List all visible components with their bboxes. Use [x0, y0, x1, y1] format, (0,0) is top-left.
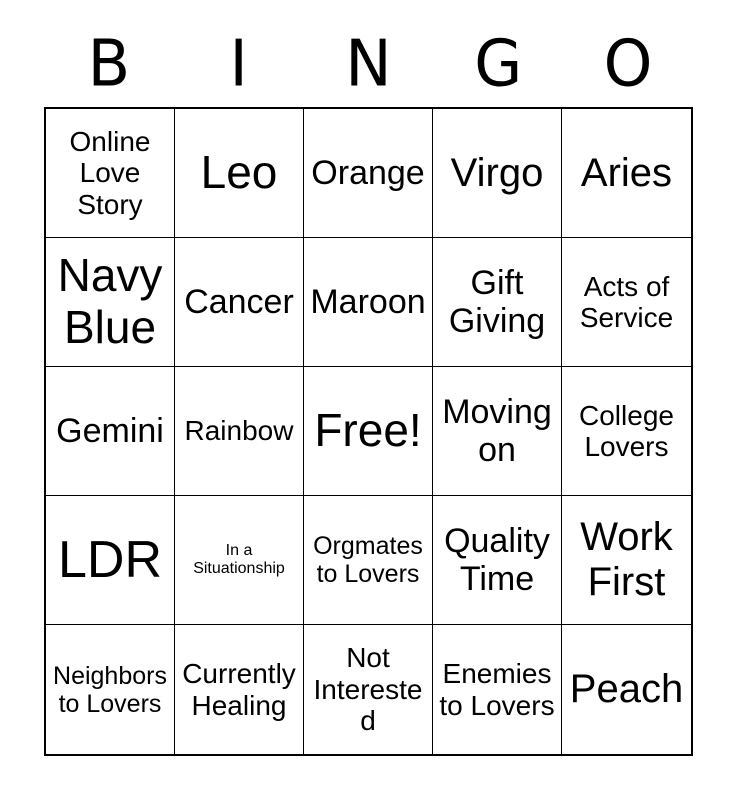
bingo-cell-label: Gemini: [49, 412, 171, 450]
bingo-cell[interactable]: College Lovers: [562, 367, 691, 496]
bingo-cell-label: Moving on: [436, 393, 558, 469]
bingo-cell-label: College Lovers: [565, 400, 688, 463]
bingo-cell-label: Gift Giving: [436, 264, 558, 340]
bingo-cell[interactable]: Leo: [175, 109, 304, 238]
bingo-header-letter-g: G: [433, 32, 563, 96]
bingo-cell-label: Not Interested: [307, 642, 429, 736]
bingo-cell[interactable]: Work First: [562, 496, 691, 625]
bingo-cell-label: Work First: [565, 515, 688, 605]
bingo-cell[interactable]: LDR: [46, 496, 175, 625]
bingo-cell-label: Online Love Story: [49, 126, 171, 220]
bingo-cell[interactable]: Not Interested: [304, 625, 433, 754]
bingo-grid: Online Love StoryLeoOrangeVirgoAriesNavy…: [44, 107, 693, 756]
bingo-cell-label: Acts of Service: [565, 271, 688, 334]
bingo-cell-label: Peach: [565, 667, 688, 712]
bingo-cell[interactable]: Acts of Service: [562, 238, 691, 367]
bingo-cell-label: LDR: [49, 531, 171, 589]
bingo-cell-label: Neighbors to Lovers: [49, 662, 171, 718]
bingo-cell[interactable]: Gemini: [46, 367, 175, 496]
bingo-cell[interactable]: Cancer: [175, 238, 304, 367]
bingo-cell[interactable]: Currently Healing: [175, 625, 304, 754]
bingo-cell-free[interactable]: Free!: [304, 367, 433, 496]
bingo-cell[interactable]: Enemies to Lovers: [433, 625, 562, 754]
bingo-cell[interactable]: Virgo: [433, 109, 562, 238]
bingo-cell[interactable]: In a Situationship: [175, 496, 304, 625]
bingo-header-letter-i: I: [174, 32, 304, 96]
bingo-header-letter-n: N: [304, 32, 434, 96]
bingo-header-letter-o: O: [563, 32, 693, 96]
bingo-cell[interactable]: Quality Time: [433, 496, 562, 625]
bingo-cell[interactable]: Orange: [304, 109, 433, 238]
bingo-cell-label: Cancer: [178, 283, 300, 321]
bingo-cell-label: Navy Blue: [49, 250, 171, 353]
bingo-cell-label: Enemies to Lovers: [436, 658, 558, 721]
bingo-card: BINGO Online Love StoryLeoOrangeVirgoAri…: [0, 0, 736, 800]
bingo-cell-label: Leo: [178, 147, 300, 199]
bingo-header: BINGO: [44, 24, 693, 104]
bingo-cell[interactable]: Moving on: [433, 367, 562, 496]
bingo-cell[interactable]: Aries: [562, 109, 691, 238]
bingo-cell-label: Virgo: [436, 151, 558, 196]
bingo-cell[interactable]: Maroon: [304, 238, 433, 367]
bingo-cell-label: Aries: [565, 151, 688, 196]
bingo-cell[interactable]: Online Love Story: [46, 109, 175, 238]
bingo-cell[interactable]: Gift Giving: [433, 238, 562, 367]
bingo-cell[interactable]: Navy Blue: [46, 238, 175, 367]
bingo-cell[interactable]: Orgmates to Lovers: [304, 496, 433, 625]
bingo-cell-label: Orange: [307, 154, 429, 192]
bingo-cell[interactable]: Peach: [562, 625, 691, 754]
bingo-cell-label: Rainbow: [178, 415, 300, 446]
bingo-cell-label: Quality Time: [436, 522, 558, 598]
bingo-cell-label: Free!: [307, 405, 429, 457]
bingo-cell-label: Orgmates to Lovers: [307, 532, 429, 588]
bingo-cell[interactable]: Neighbors to Lovers: [46, 625, 175, 754]
bingo-cell-label: Currently Healing: [178, 658, 300, 721]
bingo-header-letter-b: B: [44, 32, 174, 96]
bingo-cell[interactable]: Rainbow: [175, 367, 304, 496]
bingo-cell-label: Maroon: [307, 283, 429, 321]
bingo-cell-label: In a Situationship: [178, 542, 300, 578]
